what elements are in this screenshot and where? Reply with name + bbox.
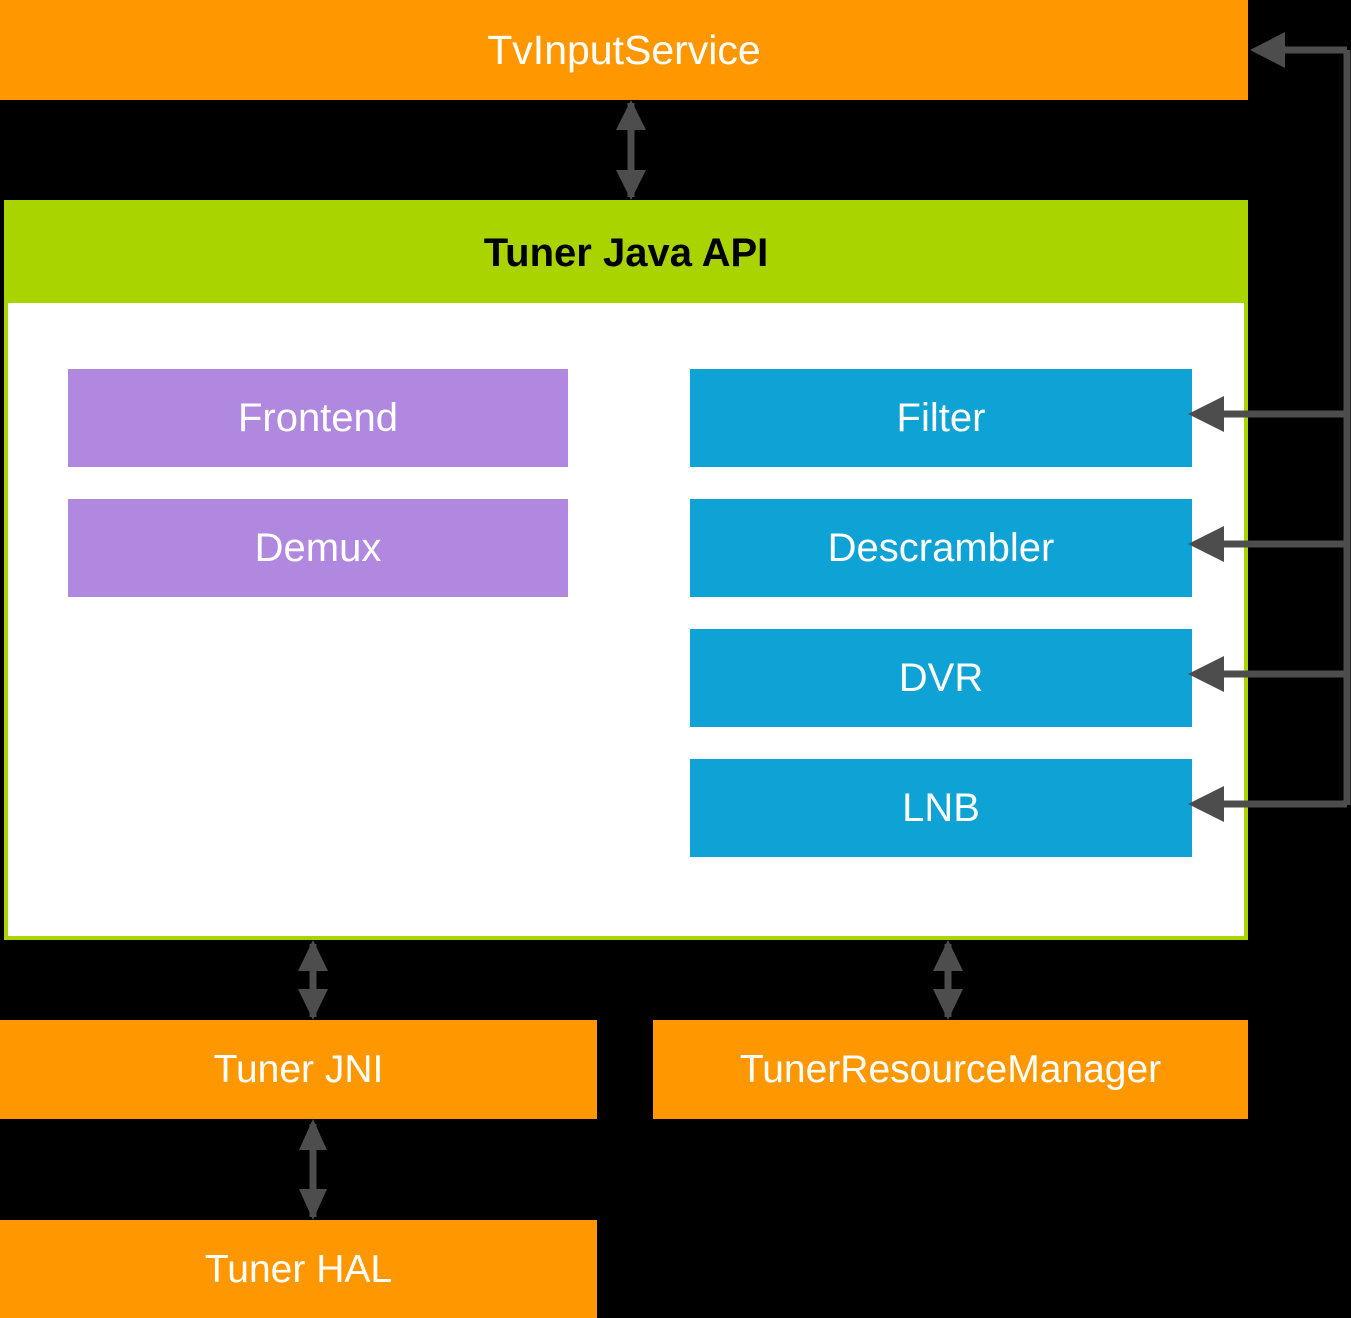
dvr-label: DVR	[899, 658, 983, 698]
filter-label: Filter	[897, 398, 986, 438]
tuner-java-api-container: Tuner Java API Frontend Demux Filter Des…	[4, 200, 1248, 940]
connector-tuner-java-api-tuner-resource-manager	[933, 940, 963, 1020]
demux-label: Demux	[255, 528, 382, 568]
diagram-canvas: TvInputService Tuner Java API Frontend D…	[0, 0, 1351, 1318]
tvinputservice-box[interactable]: TvInputService	[0, 0, 1248, 100]
descrambler-label: Descrambler	[828, 528, 1055, 568]
tuner-jni-box[interactable]: Tuner JNI	[0, 1020, 597, 1119]
connector-tuner-java-api-tuner-jni	[298, 940, 328, 1020]
connector-tuner-jni-tuner-hal	[299, 1119, 327, 1220]
tuner-java-api-label: Tuner Java API	[484, 231, 769, 276]
tuner-hal-label: Tuner HAL	[205, 1250, 392, 1289]
connector-tvinputservice-tuner-java-api	[616, 100, 646, 200]
tuner-jni-label: Tuner JNI	[214, 1050, 384, 1089]
frontend-box[interactable]: Frontend	[68, 369, 568, 467]
tvinputservice-label: TvInputService	[487, 30, 760, 71]
tuner-hal-box[interactable]: Tuner HAL	[0, 1220, 597, 1318]
filter-box[interactable]: Filter	[690, 369, 1192, 467]
tuner-resource-manager-label: TunerResourceManager	[740, 1050, 1161, 1089]
lnb-box[interactable]: LNB	[690, 759, 1192, 857]
demux-box[interactable]: Demux	[68, 499, 568, 597]
dvr-box[interactable]: DVR	[690, 629, 1192, 727]
descrambler-box[interactable]: Descrambler	[690, 499, 1192, 597]
lnb-label: LNB	[902, 788, 980, 828]
frontend-label: Frontend	[238, 398, 398, 438]
tuner-java-api-header: Tuner Java API	[8, 204, 1244, 303]
tuner-resource-manager-box[interactable]: TunerResourceManager	[653, 1020, 1248, 1119]
